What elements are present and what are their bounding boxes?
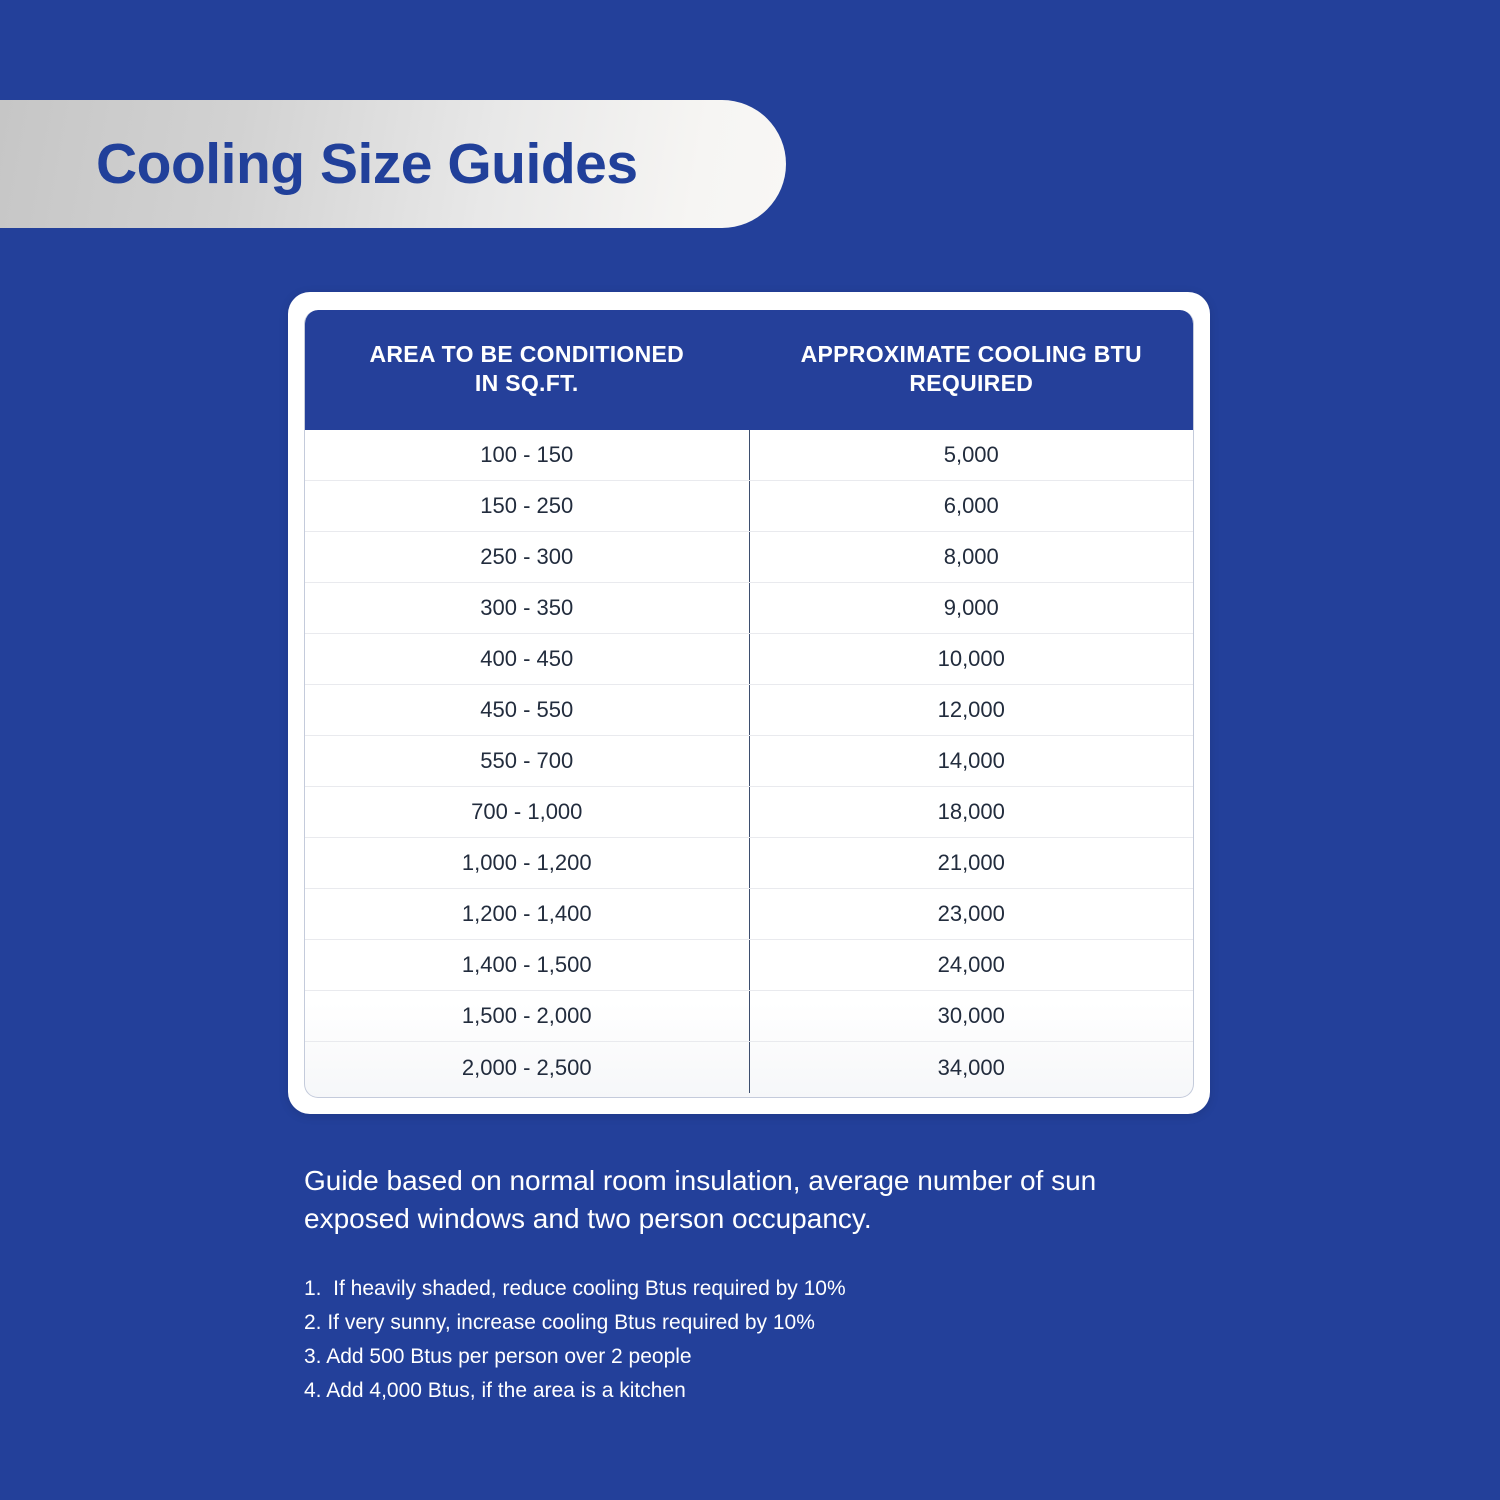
cell-btu: 6,000 <box>749 481 1193 532</box>
cooling-size-guide-page: Cooling Size Guides AREA TO BE CONDITION… <box>0 0 1500 1500</box>
table-row: 250 - 3008,000 <box>305 532 1193 583</box>
cell-area: 150 - 250 <box>305 481 749 532</box>
table-row: 700 - 1,00018,000 <box>305 787 1193 838</box>
cell-btu: 14,000 <box>749 736 1193 787</box>
cell-area: 2,000 - 2,500 <box>305 1042 749 1093</box>
cell-area: 1,400 - 1,500 <box>305 940 749 991</box>
table-row: 1,000 - 1,20021,000 <box>305 838 1193 889</box>
cell-area: 1,000 - 1,200 <box>305 838 749 889</box>
column-header-btu: APPROXIMATE COOLING BTU REQUIRED <box>749 310 1193 430</box>
column-header-btu-line2: REQUIRED <box>909 370 1033 396</box>
title-banner: Cooling Size Guides <box>0 100 786 228</box>
cell-btu: 24,000 <box>749 940 1193 991</box>
table-body: 100 - 1505,000150 - 2506,000250 - 3008,0… <box>305 430 1193 1093</box>
cell-btu: 34,000 <box>749 1042 1193 1093</box>
cell-area: 400 - 450 <box>305 634 749 685</box>
cell-btu: 23,000 <box>749 889 1193 940</box>
cell-btu: 30,000 <box>749 991 1193 1042</box>
cell-btu: 10,000 <box>749 634 1193 685</box>
table-row: 100 - 1505,000 <box>305 430 1193 481</box>
note-item: 2. If very sunny, increase cooling Btus … <box>304 1306 1204 1340</box>
table-header-row: AREA TO BE CONDITIONED IN SQ.FT. APPROXI… <box>305 310 1193 430</box>
table-row: 300 - 3509,000 <box>305 583 1193 634</box>
table-head: AREA TO BE CONDITIONED IN SQ.FT. APPROXI… <box>305 310 1193 430</box>
column-header-btu-line1: APPROXIMATE COOLING BTU <box>801 341 1142 367</box>
table-row: 2,000 - 2,50034,000 <box>305 1042 1193 1093</box>
table-inner-frame: AREA TO BE CONDITIONED IN SQ.FT. APPROXI… <box>304 310 1194 1098</box>
cell-area: 250 - 300 <box>305 532 749 583</box>
cell-area: 550 - 700 <box>305 736 749 787</box>
column-header-area-line1: AREA TO BE CONDITIONED <box>369 341 684 367</box>
table-row: 450 - 55012,000 <box>305 685 1193 736</box>
cooling-size-table: AREA TO BE CONDITIONED IN SQ.FT. APPROXI… <box>305 310 1193 1093</box>
cell-area: 700 - 1,000 <box>305 787 749 838</box>
note-item: 3. Add 500 Btus per person over 2 people <box>304 1340 1204 1374</box>
cell-area: 1,200 - 1,400 <box>305 889 749 940</box>
cell-area: 1,500 - 2,000 <box>305 991 749 1042</box>
table-row: 1,200 - 1,40023,000 <box>305 889 1193 940</box>
column-header-area: AREA TO BE CONDITIONED IN SQ.FT. <box>305 310 749 430</box>
table-row: 1,400 - 1,50024,000 <box>305 940 1193 991</box>
note-item: 1. If heavily shaded, reduce cooling Btu… <box>304 1272 1204 1306</box>
cell-btu: 18,000 <box>749 787 1193 838</box>
cell-btu: 21,000 <box>749 838 1193 889</box>
cell-area: 100 - 150 <box>305 430 749 481</box>
cell-btu: 9,000 <box>749 583 1193 634</box>
table-row: 1,500 - 2,00030,000 <box>305 991 1193 1042</box>
table-row: 150 - 2506,000 <box>305 481 1193 532</box>
page-title: Cooling Size Guides <box>96 136 638 193</box>
cell-btu: 8,000 <box>749 532 1193 583</box>
notes-lead-text: Guide based on normal room insulation, a… <box>304 1162 1184 1238</box>
cell-area: 450 - 550 <box>305 685 749 736</box>
column-header-area-line2: IN SQ.FT. <box>475 370 579 396</box>
table-row: 550 - 70014,000 <box>305 736 1193 787</box>
notes-list: 1. If heavily shaded, reduce cooling Btu… <box>304 1272 1204 1408</box>
note-item: 4. Add 4,000 Btus, if the area is a kitc… <box>304 1374 1204 1408</box>
cell-area: 300 - 350 <box>305 583 749 634</box>
table-card: AREA TO BE CONDITIONED IN SQ.FT. APPROXI… <box>288 292 1210 1114</box>
cell-btu: 12,000 <box>749 685 1193 736</box>
table-row: 400 - 45010,000 <box>305 634 1193 685</box>
notes-section: Guide based on normal room insulation, a… <box>304 1162 1204 1408</box>
cell-btu: 5,000 <box>749 430 1193 481</box>
